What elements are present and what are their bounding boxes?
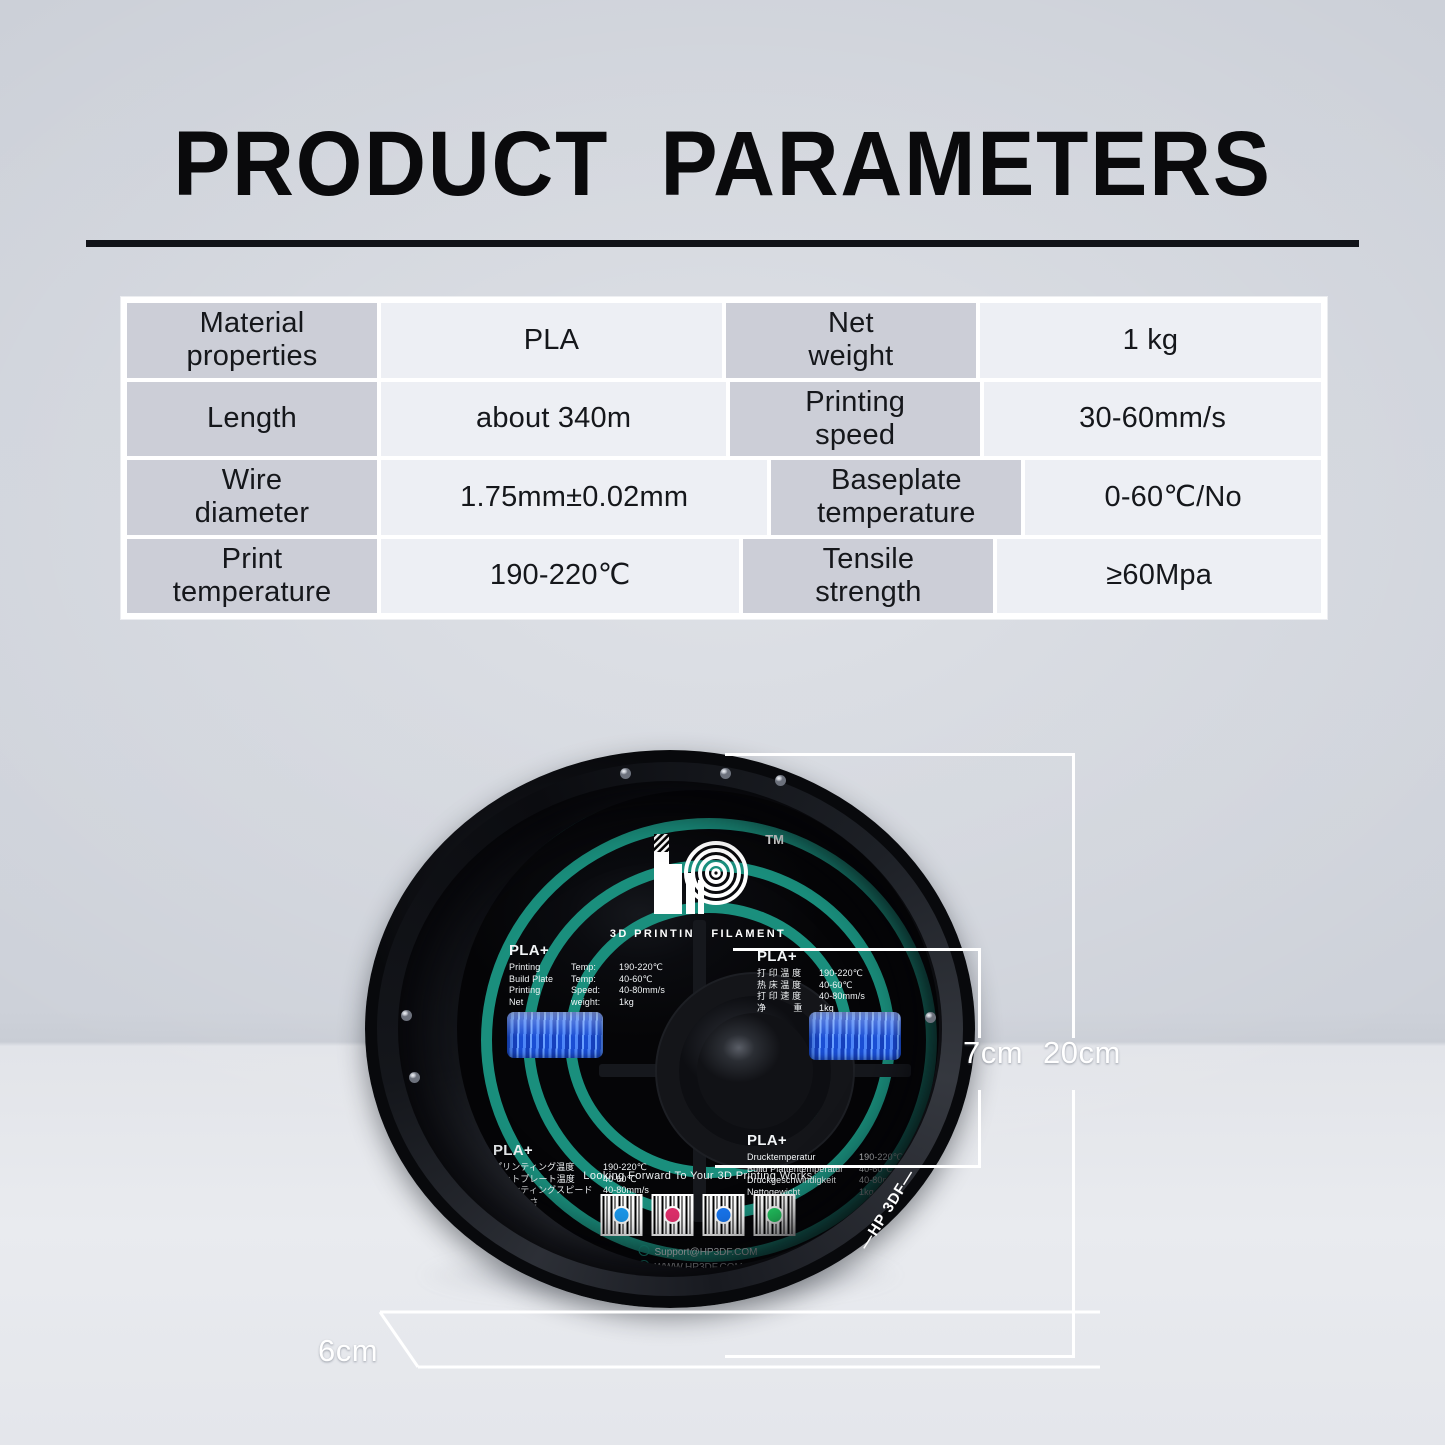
dimension-label-20cm: 20cm — [1043, 1035, 1121, 1071]
table-row: Materialproperties PLA Netweight 1 kg — [125, 301, 1323, 380]
dim-7cm-top-lead — [733, 948, 981, 951]
dim-20cm-vertical — [1072, 753, 1075, 1038]
value-text: ≥60Mpa — [1106, 559, 1212, 592]
label-text: Length — [207, 402, 297, 435]
rim-screw — [620, 768, 631, 779]
value-text: 1 kg — [1123, 324, 1179, 357]
table-row: Wirediameter 1.75mm±0.02mm Baseplatetemp… — [125, 458, 1323, 537]
dim-20cm-top-lead — [725, 753, 1075, 756]
value-text: 30-60mm/s — [1079, 402, 1226, 435]
page-title: PRODUCT PARAMETERS — [51, 118, 1395, 210]
rim-screw — [720, 768, 731, 779]
filament-window-right — [809, 1012, 901, 1060]
label-text: Netweight — [808, 307, 893, 373]
dim-7cm-vertical — [978, 948, 981, 1038]
label-text: Tensilestrength — [815, 543, 921, 609]
dim-7cm-vertical — [978, 1090, 981, 1168]
label-text: Baseplatetemperature — [817, 464, 976, 530]
rim-screw — [775, 775, 786, 786]
value-text: about 340m — [476, 402, 631, 435]
filament-spool: TM 3D PRINTING FILAMENT PLA+ PrintingTem… — [365, 750, 975, 1310]
value-text: 1.75mm±0.02mm — [460, 481, 688, 514]
cell-label-length: Length — [125, 380, 379, 459]
cell-value-wire-diameter: 1.75mm±0.02mm — [379, 458, 769, 537]
cell-label-wire-diameter: Wirediameter — [125, 458, 379, 537]
cell-value-print-temperature: 190-220℃ — [379, 537, 741, 616]
cell-label-tensile-strength: Tensilestrength — [741, 537, 995, 616]
dimension-label-6cm: 6cm — [318, 1333, 378, 1369]
cell-label-net-weight: Netweight — [724, 301, 978, 380]
rim-screw — [925, 1012, 936, 1023]
filament-window-left — [507, 1012, 603, 1058]
cell-value-material-properties: PLA — [379, 301, 724, 380]
cell-label-printing-speed: Printingspeed — [728, 380, 982, 459]
rim-screw — [401, 1010, 412, 1021]
label-text: Printtemperature — [173, 543, 332, 609]
label-text: Wirediameter — [195, 464, 309, 530]
cell-value-length: about 340m — [379, 380, 728, 459]
page-header: PRODUCT PARAMETERS — [0, 118, 1445, 210]
dimension-label-7cm: 7cm — [963, 1035, 1023, 1071]
cell-value-net-weight: 1 kg — [978, 301, 1323, 380]
title-underline — [86, 240, 1359, 247]
label-text: Printingspeed — [805, 386, 905, 452]
spec-table: Materialproperties PLA Netweight 1 kg Le… — [121, 297, 1327, 619]
value-text: 0-60℃/No — [1105, 481, 1242, 514]
cell-label-material-properties: Materialproperties — [125, 301, 379, 380]
table-row: Length about 340m Printingspeed 30-60mm/… — [125, 380, 1323, 459]
rim-screw — [409, 1072, 420, 1083]
value-text: 190-220℃ — [490, 559, 631, 592]
dim-7cm-bottom-lead — [715, 1165, 981, 1168]
cell-value-tensile-strength: ≥60Mpa — [995, 537, 1323, 616]
dim-6cm-bracket — [340, 1295, 1100, 1405]
table-row: Printtemperature 190-220℃ Tensilestrengt… — [125, 537, 1323, 616]
cell-value-baseplate-temperature: 0-60℃/No — [1023, 458, 1323, 537]
value-text: PLA — [524, 324, 579, 357]
cell-label-baseplate-temperature: Baseplatetemperature — [769, 458, 1023, 537]
cell-label-print-temperature: Printtemperature — [125, 537, 379, 616]
label-text: Materialproperties — [187, 307, 318, 373]
cell-value-printing-speed: 30-60mm/s — [982, 380, 1323, 459]
